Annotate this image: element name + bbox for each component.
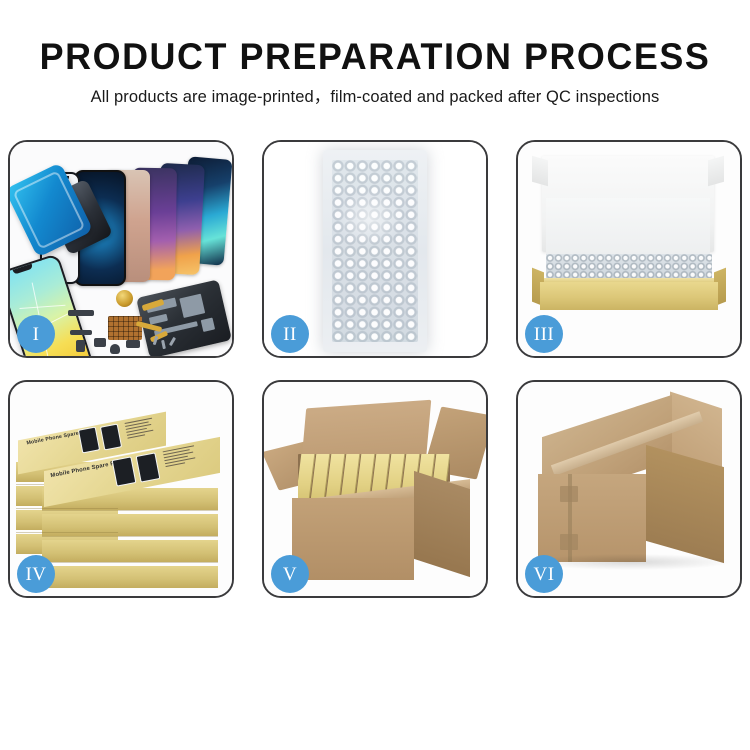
step-badge-2: II bbox=[271, 315, 309, 353]
carton-tab bbox=[560, 486, 578, 502]
step-badge-5: V bbox=[271, 555, 309, 593]
carton-front-face bbox=[538, 474, 646, 562]
process-step-panel-4[interactable]: Mobile Phone Spare Parts Mobile Phone Sp… bbox=[8, 380, 234, 598]
process-step-grid: I II III bbox=[8, 140, 742, 598]
speaker-icon bbox=[116, 290, 133, 307]
carton-front-face bbox=[292, 498, 414, 580]
product-preparation-infographic: PRODUCT PREPARATION PROCESS All products… bbox=[0, 0, 750, 750]
foam-sheet-icon bbox=[546, 198, 710, 260]
bubble-pattern bbox=[332, 160, 418, 342]
drop-shadow bbox=[534, 554, 730, 570]
process-step-panel-2[interactable]: II bbox=[262, 140, 488, 358]
page-title: PRODUCT PREPARATION PROCESS bbox=[11, 0, 739, 75]
spare-parts-cluster bbox=[68, 294, 188, 356]
bubble-wrap-icon bbox=[323, 150, 427, 352]
carton-tab bbox=[560, 534, 578, 550]
screws-icon bbox=[154, 336, 182, 354]
step-badge-3: III bbox=[525, 315, 563, 353]
header: PRODUCT PREPARATION PROCESS All products… bbox=[0, 0, 750, 106]
process-step-panel-1[interactable]: I bbox=[8, 140, 234, 358]
step-badge-1: I bbox=[17, 315, 55, 353]
kraft-box-icon bbox=[540, 282, 718, 310]
step-badge-6: VI bbox=[525, 555, 563, 593]
step-badge-4: IV bbox=[17, 555, 55, 593]
carton-side-face bbox=[414, 471, 470, 577]
process-step-panel-6[interactable]: VI bbox=[516, 380, 742, 598]
process-step-panel-5[interactable]: V bbox=[262, 380, 488, 598]
page-subtitle: All products are image-printed，film-coat… bbox=[0, 75, 750, 106]
process-step-panel-3[interactable]: III bbox=[516, 140, 742, 358]
chip-icon bbox=[108, 316, 142, 340]
